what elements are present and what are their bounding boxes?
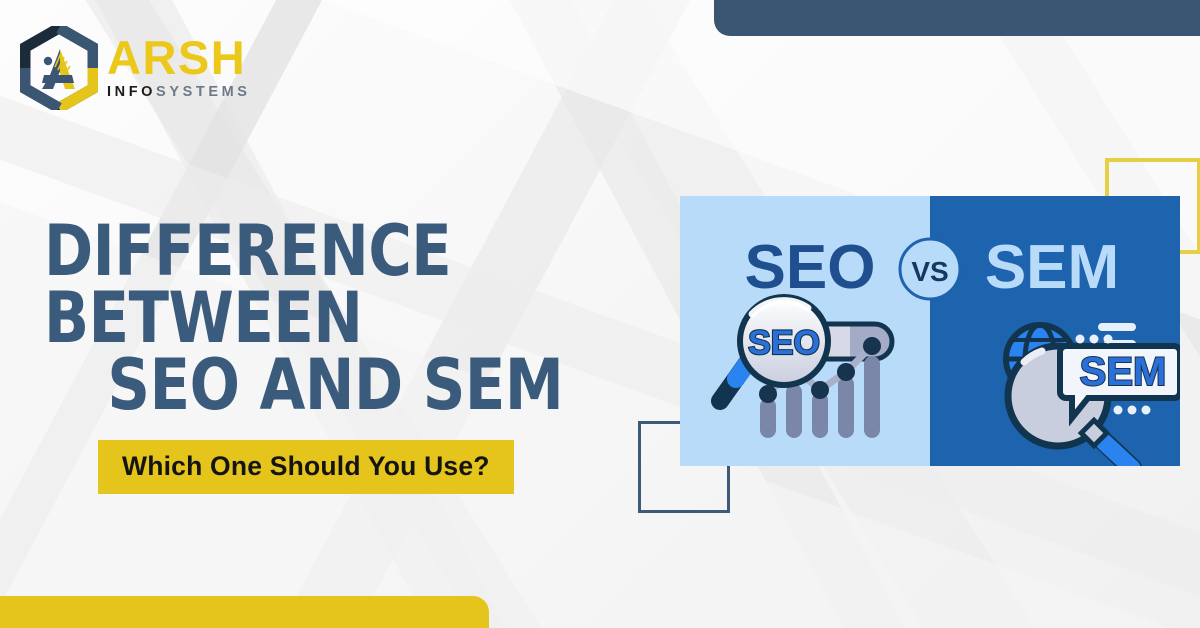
speech-bubble-label: SEM — [1080, 350, 1167, 394]
sem-title: SEM — [985, 233, 1119, 302]
brand-tagline: INFOSYSTEMS — [107, 85, 251, 100]
page-title: DIFFERENCE BETWEEN SEO AND SEM — [44, 218, 599, 420]
top-right-navy-bar — [714, 0, 1200, 36]
subtitle-banner: Which One Should You Use? — [98, 440, 514, 494]
hero-graphics: SEO SEM VS — [680, 196, 1180, 466]
seo-icon-group: SEO — [720, 297, 892, 438]
arsh-hexagon-logo-icon — [20, 26, 98, 110]
page-title-line1: DIFFERENCE BETWEEN — [44, 210, 451, 359]
magnifier-seo-icon: SEO — [740, 297, 828, 385]
vs-badge-label: VS — [911, 256, 948, 287]
bottom-left-yellow-bar — [0, 596, 489, 628]
brand-tagline-info: INFO — [107, 84, 156, 100]
headline-block: DIFFERENCE BETWEEN SEO AND SEM Which One… — [44, 218, 634, 494]
brand-tagline-systems: SYSTEMS — [156, 84, 251, 100]
seo-title: SEO — [745, 233, 876, 302]
sem-icon-group: SEM — [1006, 325, 1180, 466]
seo-vs-sem-illustration: SEO SEM VS — [680, 196, 1180, 466]
brand-logo[interactable]: ARSH INFOSYSTEMS — [20, 26, 251, 110]
subtitle-text: Which One Should You Use? — [122, 451, 490, 481]
brand-name: ARSH — [107, 34, 251, 81]
magnifier-seo-label: SEO — [748, 324, 820, 362]
page-title-line2: SEO AND SEM — [44, 352, 627, 419]
